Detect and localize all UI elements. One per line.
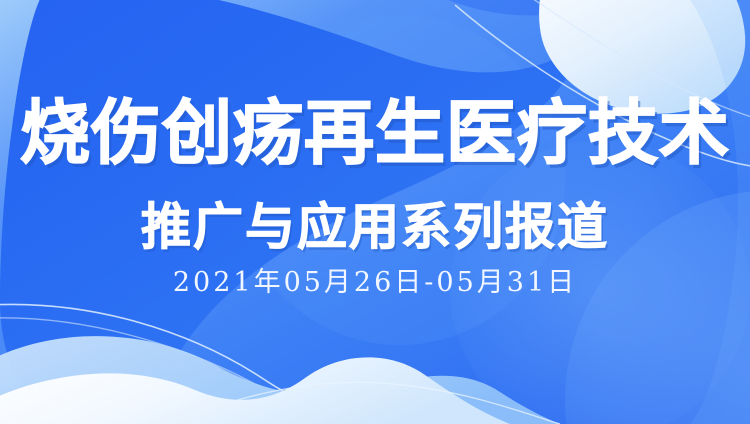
- promo-banner: 烧伤创疡再生医疗技术 推广与应用系列报道 2021年05月26日-05月31日: [0, 0, 750, 424]
- banner-content: 烧伤创疡再生医疗技术 推广与应用系列报道 2021年05月26日-05月31日: [0, 0, 750, 424]
- banner-date-range: 2021年05月26日-05月31日: [0, 269, 750, 296]
- banner-subtitle: 推广与应用系列报道: [0, 202, 750, 252]
- banner-title: 烧伤创疡再生医疗技术: [0, 98, 750, 168]
